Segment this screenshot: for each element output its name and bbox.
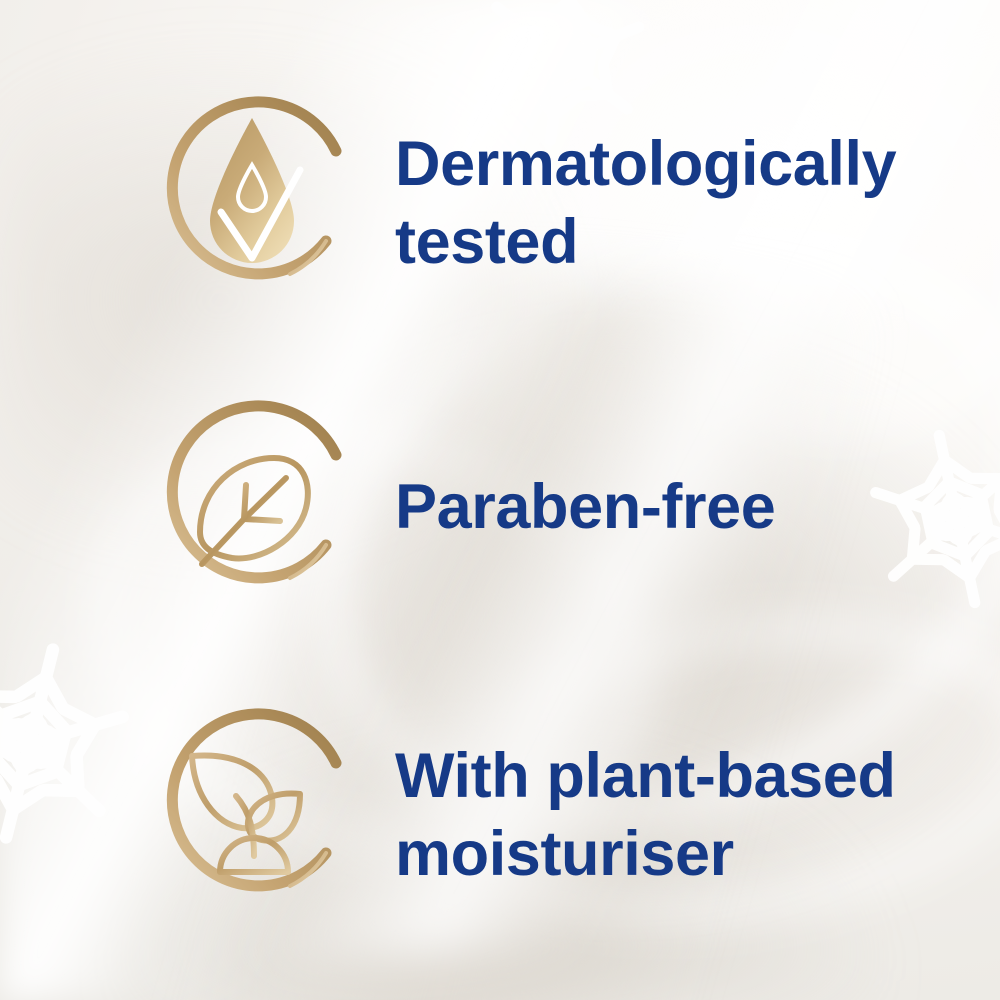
benefits-graphic: Dermatologically tested Paraben-free: [0, 0, 1000, 1000]
snowflake-bottom-left-icon: [0, 636, 137, 851]
benefit-label-plant-based-moisturiser: With plant-based moisturiser: [395, 737, 896, 893]
benefit-row-plant-based-moisturiser: With plant-based moisturiser: [140, 700, 896, 930]
droplet-shape-icon: [210, 118, 294, 263]
circle-arc-icon: [172, 714, 336, 886]
sprout-leaf-left-icon: [192, 755, 272, 828]
circle-arc-icon: [172, 406, 336, 578]
benefit-row-dermatologically-tested: Dermatologically tested: [140, 88, 896, 318]
benefit-row-paraben-free: Paraben-free: [140, 392, 775, 622]
benefit-label-dermatologically-tested: Dermatologically tested: [395, 125, 896, 281]
benefit-icon-paraben-free: [140, 392, 370, 622]
benefit-icon-dermatologically-tested: [140, 88, 370, 318]
snowflake-right-icon: [862, 424, 1000, 614]
leaf-midrib-icon: [244, 478, 286, 519]
benefit-icon-plant-based-moisturiser: [140, 700, 370, 930]
benefit-label-paraben-free: Paraben-free: [395, 468, 775, 546]
